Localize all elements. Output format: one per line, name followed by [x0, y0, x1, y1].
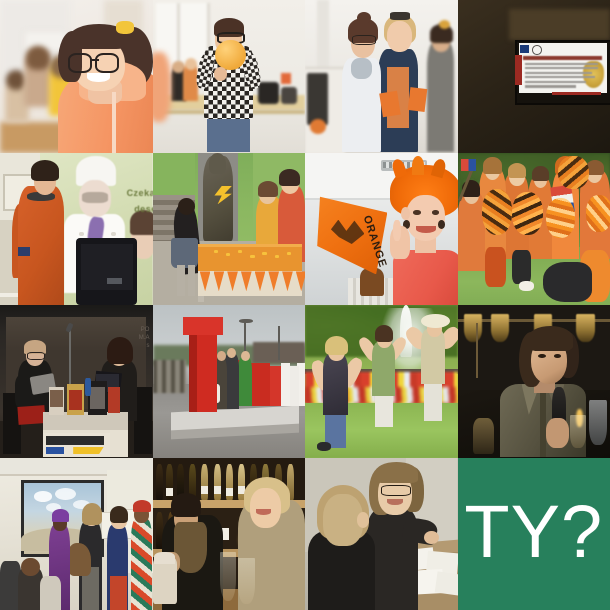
- seated-audience-head: [21, 558, 39, 576]
- confetti: [275, 255, 280, 258]
- wall-poster-text: POM.As: [139, 326, 150, 350]
- collage-tile-9[interactable]: POM.As: [0, 305, 153, 458]
- sun-hat: [421, 314, 450, 328]
- jumper-2-hair: [375, 325, 393, 342]
- leg: [188, 265, 196, 296]
- shoe: [317, 442, 331, 451]
- slide-crest-graphic: [583, 61, 604, 88]
- hanging-lamp: [491, 314, 509, 341]
- bottle-label: [226, 488, 233, 496]
- collage-tile-11[interactable]: [305, 305, 458, 458]
- woman-ear: [401, 207, 410, 219]
- student-2-smile: [387, 499, 402, 505]
- monitor-panel: [107, 278, 122, 284]
- denim-skirt: [171, 238, 198, 269]
- seated-audience: [40, 576, 61, 610]
- man-hair: [171, 493, 202, 517]
- lamp-pole: [476, 323, 478, 378]
- bottle-label: [166, 488, 173, 496]
- photo-collage-grid: Czeka dese: [0, 0, 610, 610]
- student-1-ear: [357, 512, 369, 527]
- photo-cheerleaders-pompoms: [458, 153, 610, 306]
- wig-spike: [412, 156, 424, 176]
- student-presenter-hair: [110, 506, 128, 523]
- statue-head: [209, 153, 226, 174]
- banner-yellow-block: [73, 447, 104, 455]
- woman-finger: [393, 220, 401, 241]
- ceramic-jar-lid: [154, 552, 175, 564]
- background-woman: [427, 43, 454, 153]
- paper-sheet: [435, 572, 458, 597]
- cheerleader-hair: [532, 166, 549, 181]
- wine-bottle: [201, 464, 208, 501]
- display-book: [108, 387, 120, 413]
- collage-tile-8[interactable]: [458, 153, 610, 306]
- photo-students-at-desk: [305, 458, 458, 610]
- hair-bow: [116, 21, 134, 33]
- earring: [438, 220, 446, 229]
- photo-i-amsterdam-sign: [153, 305, 306, 458]
- collage-tile-13[interactable]: [0, 458, 153, 610]
- photo-women-with-leaflets: [305, 0, 458, 153]
- student-2-hair-top: [375, 462, 418, 483]
- photo-women-jumping-park: [305, 305, 458, 458]
- cheerleader-hair: [508, 163, 526, 178]
- photo-book-panel: POM.As: [0, 305, 153, 458]
- woman-1-scarf: [351, 58, 372, 79]
- kneeling-leg: [485, 247, 506, 287]
- pompom: [558, 156, 589, 190]
- background-woman-hair-tie: [439, 20, 450, 29]
- poster-text-line-1: Czeka: [127, 188, 153, 198]
- hanging-lamp: [464, 314, 482, 341]
- speaker-man-glasses: [27, 352, 44, 360]
- eyeglass-lens-right: [95, 53, 119, 72]
- man-hair-top: [528, 326, 574, 350]
- seated-person-2-head: [185, 58, 197, 70]
- cheerleader-hair: [483, 157, 501, 174]
- crowd: [153, 360, 187, 394]
- poster-text-line-2: dese: [134, 204, 152, 214]
- background-person-1-head: [26, 46, 50, 70]
- drinking-glass: [589, 400, 607, 446]
- confetti: [250, 255, 255, 258]
- collage-tile-6[interactable]: [153, 153, 306, 306]
- woman-2-face: [387, 21, 411, 52]
- photo-man-with-microphone: [458, 305, 610, 458]
- collage-tile-1[interactable]: [0, 0, 153, 153]
- jumper-1: [323, 354, 347, 415]
- display-book-cover: [50, 390, 62, 407]
- confetti: [287, 252, 292, 255]
- photo-classroom-presentation: [0, 458, 153, 610]
- leg: [177, 265, 185, 296]
- prop-animal: [67, 543, 91, 577]
- pompom: [546, 198, 575, 238]
- photo-wine-bar: [153, 458, 306, 610]
- slide-text-line: [525, 76, 595, 78]
- collage-tile-15[interactable]: [305, 458, 458, 610]
- collage-tile-7[interactable]: ORANGE: [305, 153, 458, 306]
- cheerleader: [458, 192, 485, 271]
- shirt-placket: [540, 393, 546, 457]
- confetti: [262, 252, 267, 255]
- orange-balloon: [215, 40, 246, 71]
- slide-side-band: [515, 55, 521, 86]
- chef-glasses: [82, 192, 108, 203]
- slide-seal-icon: [532, 45, 542, 55]
- photo-smiling-woman-orange-hoodie: [0, 0, 153, 153]
- collage-tile-16-text[interactable]: TY?: [458, 458, 610, 610]
- sunglasses-on-head: [390, 12, 410, 20]
- woman-eye: [432, 210, 440, 215]
- ceramic-jar: [153, 558, 177, 604]
- wine-glass: [220, 552, 237, 601]
- slide-text-line: [525, 85, 577, 87]
- pompom: [482, 189, 513, 235]
- back-wall: [509, 9, 610, 40]
- slide-text-line: [525, 72, 592, 74]
- wine-bottle: [214, 464, 221, 501]
- slide-text-line: [525, 63, 598, 65]
- confetti: [214, 250, 219, 253]
- tourist: [238, 357, 252, 406]
- wine-glass: [238, 558, 255, 604]
- wall-sign: [281, 73, 292, 84]
- hanging-lamp: [576, 314, 594, 341]
- green-text-tile: TY?: [458, 458, 610, 610]
- collage-tile-14[interactable]: [153, 458, 306, 610]
- microphone-stand: [69, 329, 71, 381]
- woman-eye: [413, 210, 421, 215]
- student-presenter-hair: [82, 503, 102, 524]
- table-jar: [473, 418, 494, 455]
- jumper-1-hair: [325, 336, 348, 356]
- collage-tile-12[interactable]: [458, 305, 610, 458]
- eyeglass-lens-left: [68, 53, 92, 72]
- woman-face: [406, 195, 446, 241]
- photo-orange-wig-flag: ORANGE: [305, 153, 458, 306]
- white-sneaker: [519, 281, 534, 292]
- pompom: [586, 195, 610, 232]
- small-flag: [461, 159, 476, 171]
- display-book-cover: [90, 387, 105, 408]
- student-red-trousers: [110, 576, 127, 610]
- letter-sculpture-white: [290, 366, 299, 406]
- photo-man-orange-sweater-chef-poster: Czeka dese: [0, 153, 153, 306]
- student-hand: [214, 67, 228, 81]
- student-presenter-headwrap: [52, 509, 69, 521]
- arm-band: [18, 247, 30, 256]
- standing-person-3-hair: [279, 169, 300, 186]
- hoodie-zipper: [112, 92, 116, 153]
- collage-tile-3[interactable]: [305, 0, 458, 153]
- standing-person-2-hair: [258, 181, 278, 196]
- man-eye: [538, 354, 546, 358]
- student-presenter-headwrap: [133, 500, 151, 512]
- collage-tile-10[interactable]: [153, 305, 306, 458]
- jumper-2: [372, 342, 395, 397]
- vending-machine: [307, 73, 328, 125]
- slide-bottom-bar: [552, 92, 601, 95]
- slide-headline: [523, 56, 602, 60]
- photo-dark-room-projection: [458, 0, 610, 153]
- slide-text-line: [525, 67, 598, 69]
- drinking-glass: [570, 415, 585, 449]
- pompom: [512, 192, 543, 235]
- woman-face: [250, 488, 281, 528]
- kneeling-leg: [512, 250, 530, 284]
- woman-1-bun: [357, 12, 371, 24]
- ty-question-text: TY?: [458, 458, 610, 610]
- confetti: [226, 253, 231, 256]
- man-hand: [546, 418, 569, 449]
- jumper-3: [421, 329, 445, 384]
- letter-sculpture-red: [270, 366, 281, 406]
- eyeglass-bridge: [90, 59, 99, 61]
- speaker-woman-hair: [107, 337, 133, 364]
- display-book-cover: [69, 390, 83, 410]
- photo-balloon-blower: [153, 0, 306, 153]
- letter-sculpture-red: [249, 363, 270, 406]
- bottle-label: [214, 486, 221, 494]
- backpack-right: [281, 87, 298, 104]
- collage-tile-5[interactable]: Czeka dese: [0, 153, 153, 306]
- bottle-label: [201, 486, 208, 494]
- tourist-head: [217, 351, 226, 362]
- slide-logo: [520, 45, 529, 53]
- student-2-glasses: [381, 485, 410, 496]
- collage-tile-4[interactable]: [458, 0, 610, 153]
- foreground-blur: [153, 52, 171, 122]
- man-orange-sweater: [18, 186, 64, 305]
- photo-orange-promo-stand: [153, 153, 306, 306]
- man-eye: [554, 354, 562, 358]
- water-bottle: [85, 378, 91, 396]
- background-person-3-head: [6, 70, 26, 90]
- letter-sculpture-white: [281, 363, 290, 406]
- backpack-left: [258, 82, 279, 103]
- student-presenter: [131, 519, 152, 610]
- woman-1-glasses: [352, 35, 375, 45]
- letter-I-top: [183, 317, 223, 335]
- street-lamp-post: [278, 326, 280, 360]
- lying-cheerleader: [543, 262, 592, 302]
- banner-wordmark: [46, 436, 104, 445]
- wine-bottle: [156, 464, 163, 501]
- man-hair: [31, 160, 60, 181]
- collage-tile-2[interactable]: [153, 0, 306, 153]
- banner-blue-block: [46, 447, 64, 455]
- projected-cloud: [34, 491, 52, 502]
- orange-leaflet-2: [407, 88, 426, 113]
- slide-text-line: [525, 81, 586, 83]
